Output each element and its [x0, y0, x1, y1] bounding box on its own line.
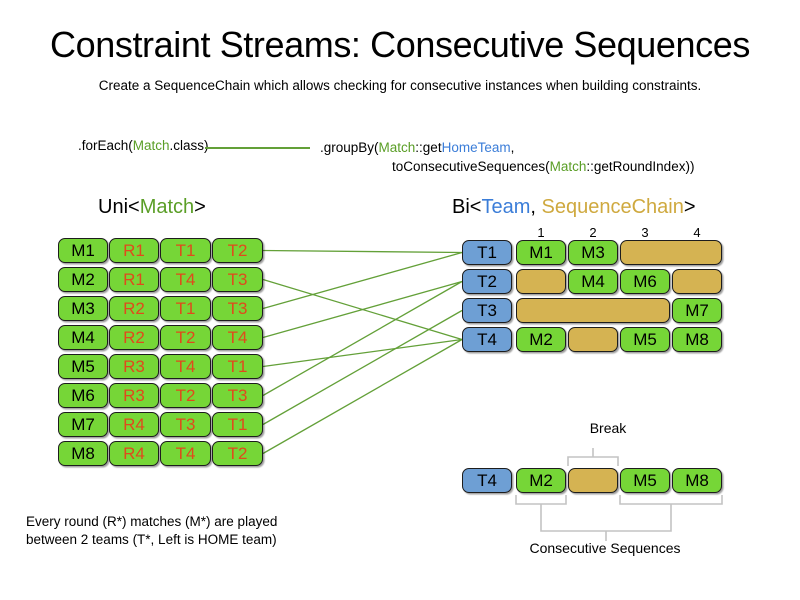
match-team-link	[263, 253, 462, 309]
bi-column-header: 3	[635, 225, 655, 240]
uni-cell-home: T4	[160, 354, 211, 379]
uni-cell-away: T3	[212, 383, 263, 408]
bi-sequence-gap	[672, 269, 722, 294]
uni-cell-round: R3	[109, 383, 159, 408]
sequence-brace-right	[620, 495, 722, 504]
sequence-detail-diagram: Break Consecutive Sequences T4M2M5M8	[0, 420, 800, 580]
bi-sequence-match: M8	[672, 327, 722, 352]
uni-cell-match: M1	[58, 238, 108, 263]
bi-column-header: 4	[687, 225, 707, 240]
match-team-link	[263, 251, 462, 253]
bi-column-header: 1	[531, 225, 551, 240]
bi-sequence-match: M2	[516, 327, 566, 352]
sequence-brace-left	[516, 495, 566, 504]
bi-sequence-match: M4	[568, 269, 618, 294]
bi-sequence-match: M7	[672, 298, 722, 323]
bi-team-chip: T3	[462, 298, 512, 323]
match-team-link	[263, 311, 462, 425]
uni-cell-match: M4	[58, 325, 108, 350]
bi-column-header: 2	[583, 225, 603, 240]
bi-sequence-gap	[568, 327, 618, 352]
bi-sequence-match: M3	[568, 240, 618, 265]
uni-cell-away: T3	[212, 267, 263, 292]
uni-cell-match: M3	[58, 296, 108, 321]
bi-sequence-match: M1	[516, 240, 566, 265]
bi-sequence-gap	[516, 298, 670, 323]
uni-cell-round: R3	[109, 354, 159, 379]
bi-team-chip: T4	[462, 327, 512, 352]
match-team-link	[263, 282, 462, 338]
uni-cell-home: T4	[160, 267, 211, 292]
bi-team-chip: T1	[462, 240, 512, 265]
uni-cell-away: T2	[212, 238, 263, 263]
bi-sequence-match: M5	[620, 327, 670, 352]
match-team-link	[263, 282, 462, 396]
uni-cell-match: M6	[58, 383, 108, 408]
uni-cell-match: M5	[58, 354, 108, 379]
uni-cell-away: T4	[212, 325, 263, 350]
uni-cell-home: T1	[160, 238, 211, 263]
uni-cell-home: T2	[160, 383, 211, 408]
sequence-join-brace	[541, 504, 671, 531]
bi-sequence-gap	[516, 269, 566, 294]
uni-cell-match: M2	[58, 267, 108, 292]
detail-braces	[0, 420, 800, 580]
uni-cell-round: R2	[109, 296, 159, 321]
uni-cell-round: R1	[109, 267, 159, 292]
bi-sequence-gap	[620, 240, 722, 265]
uni-cell-away: T3	[212, 296, 263, 321]
uni-cell-home: T2	[160, 325, 211, 350]
uni-cell-home: T1	[160, 296, 211, 321]
slide-canvas: Constraint Streams: Consecutive Sequence…	[0, 0, 800, 600]
uni-cell-away: T1	[212, 354, 263, 379]
uni-cell-round: R1	[109, 238, 159, 263]
break-brace	[568, 457, 618, 466]
match-team-link	[263, 340, 462, 367]
bi-team-chip: T2	[462, 269, 512, 294]
uni-cell-round: R2	[109, 325, 159, 350]
bi-sequence-match: M6	[620, 269, 670, 294]
